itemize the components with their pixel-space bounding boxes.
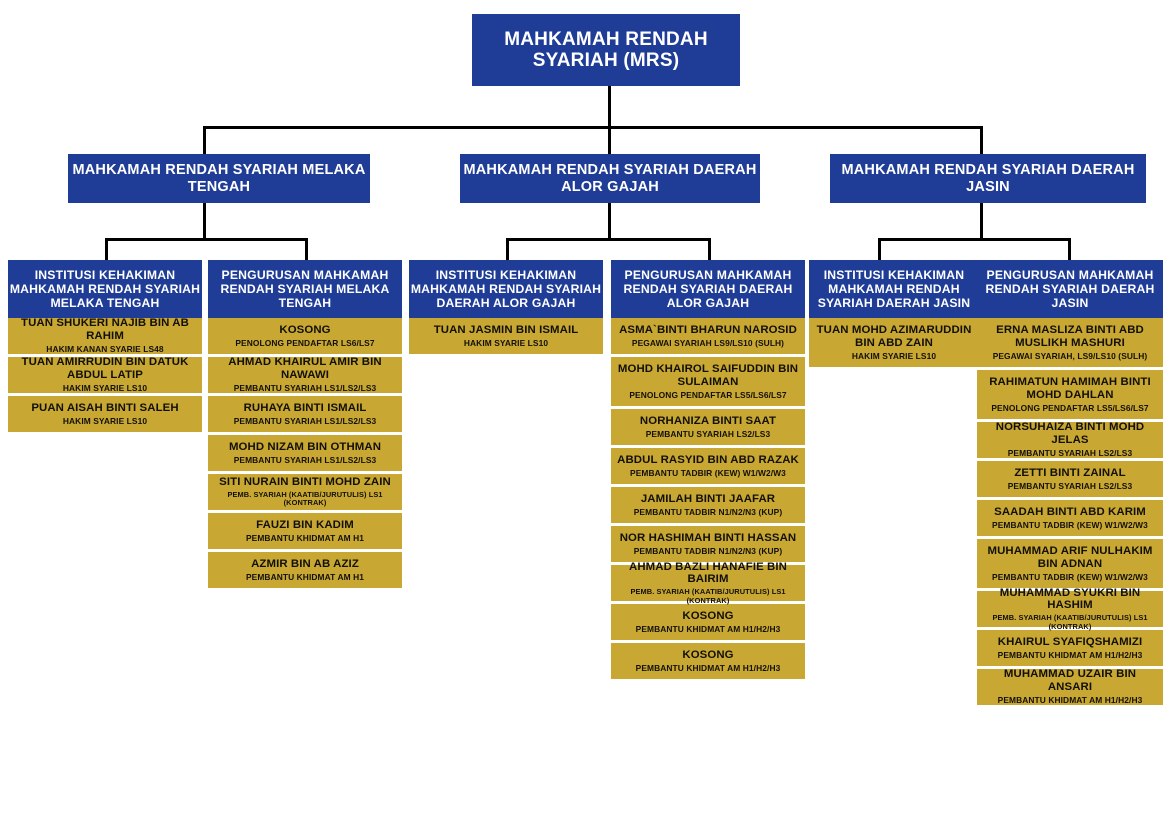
entry-position: PEMBANTU SYARIAH LS2/LS3 (1008, 482, 1132, 492)
column-pengurusan-jasin: PENGURUSAN MAHKAMAH RENDAH SYARIAH DAERA… (977, 260, 1163, 708)
column-header-pengurusan-jasin[interactable]: PENGURUSAN MAHKAMAH RENDAH SYARIAH DAERA… (977, 260, 1163, 318)
entry-position: HAKIM KANAN SYARIE LS48 (46, 345, 163, 355)
entry-row[interactable]: SAADAH BINTI ABD KARIM PEMBANTU TADBIR (… (977, 500, 1163, 536)
entry-row[interactable]: MUHAMMAD ARIF NULHAKIM BIN ADNAN PEMBANT… (977, 539, 1163, 588)
entry-name: NOR HASHIMAH BINTI HASSAN (620, 532, 797, 545)
entry-name: PUAN AISAH BINTI SALEH (31, 402, 178, 415)
entry-position: HAKIM SYARIE LS10 (63, 417, 147, 427)
entry-position: PEMBANTU TADBIR (KEW) W1/W2/W3 (992, 521, 1148, 531)
entry-position: HAKIM SYARIE LS10 (852, 352, 936, 362)
entry-position: PEMBANTU SYARIAH LS1/LS2/LS3 (234, 456, 377, 466)
entry-name: SAADAH BINTI ABD KARIM (994, 506, 1146, 519)
entry-name: RAHIMATUN HAMIMAH BINTI MOHD DAHLAN (981, 376, 1159, 402)
entry-row[interactable]: KOSONG PEMBANTU KHIDMAT AM H1/H2/H3 (611, 643, 805, 679)
entry-position: PEMBANTU TADBIR N1/N2/N3 (KUP) (634, 547, 782, 557)
entry-row[interactable]: NOR HASHIMAH BINTI HASSAN PEMBANTU TADBI… (611, 526, 805, 562)
entry-position: PENOLONG PENDAFTAR LS5/LS6/LS7 (629, 391, 786, 401)
connector-jasin-stem (980, 203, 983, 238)
entry-position: PEMBANTU KHIDMAT AM H1 (246, 573, 364, 583)
entry-name: NORHANIZA BINTI SAAT (640, 415, 776, 428)
entry-position: PEMBANTU KHIDMAT AM H1/H2/H3 (998, 696, 1143, 706)
column-header-label: INSTITUSI KEHAKIMAN MAHKAMAH RENDAH SYAR… (8, 268, 202, 310)
connector-jasin-spine (878, 238, 1071, 241)
connector-alorgajah-stem (608, 203, 611, 238)
column-header-label: INSTITUSI KEHAKIMAN MAHKAMAH RENDAH SYAR… (809, 268, 979, 310)
entry-position: HAKIM SYARIE LS10 (63, 384, 147, 394)
entry-name: MUHAMMAD SYUKRI BIN HASHIM (981, 587, 1159, 613)
connector-alorgajah-left-drop (506, 238, 509, 260)
connector-root-stem (608, 86, 611, 126)
entry-name: ERNA MASLIZA BINTI ABD MUSLIKH MASHURI (981, 324, 1159, 350)
entry-name: ZETTI BINTI ZAINAL (1014, 467, 1125, 480)
entry-row[interactable]: RUHAYA BINTI ISMAIL PEMBANTU SYARIAH LS1… (208, 396, 402, 432)
entry-row[interactable]: SITI NURAIN BINTI MOHD ZAIN PEMB. SYARIA… (208, 474, 402, 510)
column-pengurusan-melaka-tengah: PENGURUSAN MAHKAMAH RENDAH SYARIAH MELAK… (208, 260, 402, 591)
entry-name: AHMAD BAZLI HANAFIE BIN BAIRIM (615, 561, 801, 587)
connector-melaka-stem (203, 203, 206, 238)
entry-position: PEMB. SYARIAH (KAATIB/JURUTULIS) LS1 (KO… (212, 491, 398, 508)
connector-melaka-right-drop (305, 238, 308, 260)
entry-position: PEMBANTU TADBIR N1/N2/N3 (KUP) (634, 508, 782, 518)
entry-name: KOSONG (682, 649, 733, 662)
entry-position: PENOLONG PENDAFTAR LS5/LS6/LS7 (991, 404, 1148, 414)
entry-row[interactable]: AZMIR BIN AB AZIZ PEMBANTU KHIDMAT AM H1 (208, 552, 402, 588)
column-header-pengurusan-melaka-tengah[interactable]: PENGURUSAN MAHKAMAH RENDAH SYARIAH MELAK… (208, 260, 402, 318)
entry-position: PEMBANTU SYARIAH LS2/LS3 (646, 430, 770, 440)
entry-position: PEMB. SYARIAH (KAATIB/JURUTULIS) LS1 (KO… (981, 614, 1159, 631)
entry-row[interactable]: AHMAD KHAIRUL AMIR BIN NAWAWI PEMBANTU S… (208, 357, 402, 393)
node-mrs-jasin[interactable]: MAHKAMAH RENDAH SYARIAH DAERAH JASIN (830, 154, 1146, 203)
node-mrs-jasin-label: MAHKAMAH RENDAH SYARIAH DAERAH JASIN (830, 162, 1146, 194)
node-root-label: MAHKAMAH RENDAH SYARIAH (MRS) (472, 29, 740, 72)
entry-name: TUAN MOHD AZIMARUDDIN BIN ABD ZAIN (813, 324, 975, 350)
column-institusi-jasin: INSTITUSI KEHAKIMAN MAHKAMAH RENDAH SYAR… (809, 260, 979, 370)
node-mrs-alor-gajah[interactable]: MAHKAMAH RENDAH SYARIAH DAERAH ALOR GAJA… (460, 154, 760, 203)
column-header-institusi-jasin[interactable]: INSTITUSI KEHAKIMAN MAHKAMAH RENDAH SYAR… (809, 260, 979, 318)
entry-row[interactable]: JAMILAH BINTI JAAFAR PEMBANTU TADBIR N1/… (611, 487, 805, 523)
entry-row[interactable]: KOSONG PEMBANTU KHIDMAT AM H1/H2/H3 (611, 604, 805, 640)
entry-position: PEMBANTU TADBIR (KEW) W1/W2/W3 (630, 469, 786, 479)
column-header-pengurusan-alor-gajah[interactable]: PENGURUSAN MAHKAMAH RENDAH SYARIAH DAERA… (611, 260, 805, 318)
entry-name: JAMILAH BINTI JAAFAR (641, 493, 775, 506)
column-institusi-alor-gajah: INSTITUSI KEHAKIMAN MAHKAMAH RENDAH SYAR… (409, 260, 603, 357)
entry-row[interactable]: ASMA`BINTI BHARUN NAROSID PEGAWAI SYARIA… (611, 318, 805, 354)
column-pengurusan-alor-gajah: PENGURUSAN MAHKAMAH RENDAH SYARIAH DAERA… (611, 260, 805, 682)
entry-name: TUAN JASMIN BIN ISMAIL (434, 324, 579, 337)
connector-drop-melaka (203, 126, 206, 154)
connector-drop-alorgajah (608, 126, 611, 154)
entry-row[interactable]: AHMAD BAZLI HANAFIE BIN BAIRIM PEMB. SYA… (611, 565, 805, 601)
node-mrs-alor-gajah-label: MAHKAMAH RENDAH SYARIAH DAERAH ALOR GAJA… (460, 162, 760, 194)
entry-name: MUHAMMAD ARIF NULHAKIM BIN ADNAN (981, 545, 1159, 571)
entry-row[interactable]: MUHAMMAD SYUKRI BIN HASHIM PEMB. SYARIAH… (977, 591, 1163, 627)
column-header-label: INSTITUSI KEHAKIMAN MAHKAMAH RENDAH SYAR… (409, 268, 603, 310)
entry-row[interactable]: ERNA MASLIZA BINTI ABD MUSLIKH MASHURI P… (977, 318, 1163, 367)
entry-row[interactable]: ABDUL RASYID BIN ABD RAZAK PEMBANTU TADB… (611, 448, 805, 484)
entry-row[interactable]: TUAN AMIRRUDIN BIN DATUK ABDUL LATIP HAK… (8, 357, 202, 393)
entry-row[interactable]: TUAN MOHD AZIMARUDDIN BIN ABD ZAIN HAKIM… (809, 318, 979, 367)
entry-position: PEMBANTU SYARIAH LS1/LS2/LS3 (234, 417, 377, 427)
column-header-label: PENGURUSAN MAHKAMAH RENDAH SYARIAH DAERA… (977, 268, 1163, 310)
entry-name: KOSONG (682, 610, 733, 623)
connector-drop-jasin (980, 126, 983, 154)
entry-row[interactable]: KHAIRUL SYAFIQSHAMIZI PEMBANTU KHIDMAT A… (977, 630, 1163, 666)
entry-position: PEMBANTU SYARIAH LS2/LS3 (1008, 449, 1132, 459)
entry-name: TUAN SHUKERI NAJIB BIN AB RAHIM (12, 317, 198, 343)
column-header-institusi-melaka-tengah[interactable]: INSTITUSI KEHAKIMAN MAHKAMAH RENDAH SYAR… (8, 260, 202, 318)
connector-alorgajah-right-drop (708, 238, 711, 260)
entry-row[interactable]: RAHIMATUN HAMIMAH BINTI MOHD DAHLAN PENO… (977, 370, 1163, 419)
connector-alorgajah-spine (506, 238, 711, 241)
entry-position: PEMBANTU KHIDMAT AM H1/H2/H3 (636, 625, 781, 635)
org-chart: MAHKAMAH RENDAH SYARIAH (MRS) MAHKAMAH R… (0, 0, 1169, 827)
entry-position: PEMBANTU TADBIR (KEW) W1/W2/W3 (992, 573, 1148, 583)
entry-position: PEMBANTU SYARIAH LS1/LS2/LS3 (234, 384, 377, 394)
entry-name: FAUZI BIN KADIM (256, 519, 354, 532)
node-mrs-melaka-tengah[interactable]: MAHKAMAH RENDAH SYARIAH MELAKA TENGAH (68, 154, 370, 203)
entry-row[interactable]: MOHD KHAIROL SAIFUDDIN BIN SULAIMAN PENO… (611, 357, 805, 406)
entry-position: PEMBANTU KHIDMAT AM H1/H2/H3 (636, 664, 781, 674)
entry-name: KOSONG (279, 324, 330, 337)
entry-row[interactable]: PUAN AISAH BINTI SALEH HAKIM SYARIE LS10 (8, 396, 202, 432)
entry-position: PEMB. SYARIAH (KAATIB/JURUTULIS) LS1 (KO… (615, 588, 801, 605)
connector-root-spine (203, 126, 983, 129)
node-root[interactable]: MAHKAMAH RENDAH SYARIAH (MRS) (472, 14, 740, 86)
entry-position: HAKIM SYARIE LS10 (464, 339, 548, 349)
entry-row[interactable]: TUAN JASMIN BIN ISMAIL HAKIM SYARIE LS10 (409, 318, 603, 354)
entry-name: TUAN AMIRRUDIN BIN DATUK ABDUL LATIP (12, 356, 198, 382)
entry-name: AZMIR BIN AB AZIZ (251, 558, 359, 571)
entry-row[interactable]: ZETTI BINTI ZAINAL PEMBANTU SYARIAH LS2/… (977, 461, 1163, 497)
entry-name: MOHD NIZAM BIN OTHMAN (229, 441, 381, 454)
entry-row[interactable]: KOSONG PENOLONG PENDAFTAR LS6/LS7 (208, 318, 402, 354)
entry-row[interactable]: NORHANIZA BINTI SAAT PEMBANTU SYARIAH LS… (611, 409, 805, 445)
connector-jasin-left-drop (878, 238, 881, 260)
entry-row[interactable]: MUHAMMAD UZAIR BIN ANSARI PEMBANTU KHIDM… (977, 669, 1163, 705)
entry-position: PENOLONG PENDAFTAR LS6/LS7 (235, 339, 374, 349)
entry-name: ASMA`BINTI BHARUN NAROSID (619, 324, 797, 337)
column-header-label: PENGURUSAN MAHKAMAH RENDAH SYARIAH DAERA… (611, 268, 805, 310)
entry-position: PEMBANTU KHIDMAT AM H1/H2/H3 (998, 651, 1143, 661)
entry-name: NORSUHAIZA BINTI MOHD JELAS (981, 421, 1159, 447)
column-header-institusi-alor-gajah[interactable]: INSTITUSI KEHAKIMAN MAHKAMAH RENDAH SYAR… (409, 260, 603, 318)
entry-position: PEGAWAI SYARIAH, LS9/LS10 (SULH) (993, 352, 1148, 362)
connector-jasin-right-drop (1068, 238, 1071, 260)
entry-name: AHMAD KHAIRUL AMIR BIN NAWAWI (212, 356, 398, 382)
entry-position: PEGAWAI SYARIAH LS9/LS10 (SULH) (632, 339, 784, 349)
entry-name: KHAIRUL SYAFIQSHAMIZI (998, 636, 1143, 649)
column-header-label: PENGURUSAN MAHKAMAH RENDAH SYARIAH MELAK… (208, 268, 402, 310)
entry-name: RUHAYA BINTI ISMAIL (244, 402, 367, 415)
node-mrs-melaka-tengah-label: MAHKAMAH RENDAH SYARIAH MELAKA TENGAH (68, 162, 370, 194)
entry-name: ABDUL RASYID BIN ABD RAZAK (617, 454, 799, 467)
entry-row[interactable]: TUAN SHUKERI NAJIB BIN AB RAHIM HAKIM KA… (8, 318, 202, 354)
connector-melaka-spine (105, 238, 308, 241)
entry-row[interactable]: NORSUHAIZA BINTI MOHD JELAS PEMBANTU SYA… (977, 422, 1163, 458)
connector-melaka-left-drop (105, 238, 108, 260)
column-institusi-melaka-tengah: INSTITUSI KEHAKIMAN MAHKAMAH RENDAH SYAR… (8, 260, 202, 435)
entry-position: PEMBANTU KHIDMAT AM H1 (246, 534, 364, 544)
entry-name: MUHAMMAD UZAIR BIN ANSARI (981, 668, 1159, 694)
entry-row[interactable]: FAUZI BIN KADIM PEMBANTU KHIDMAT AM H1 (208, 513, 402, 549)
entry-name: SITI NURAIN BINTI MOHD ZAIN (219, 476, 391, 489)
entry-name: MOHD KHAIROL SAIFUDDIN BIN SULAIMAN (615, 363, 801, 389)
entry-row[interactable]: MOHD NIZAM BIN OTHMAN PEMBANTU SYARIAH L… (208, 435, 402, 471)
